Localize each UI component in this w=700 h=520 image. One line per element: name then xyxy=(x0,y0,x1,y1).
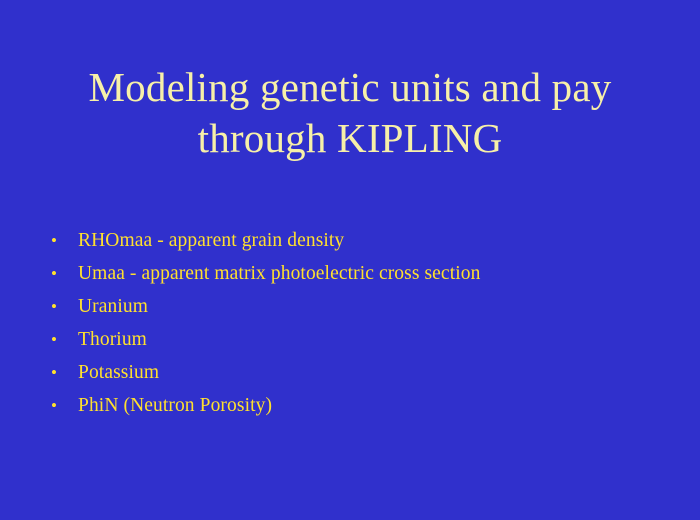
bullet-point-icon: • xyxy=(48,224,60,257)
slide-bullet-list: • RHOmaa - apparent grain density • Umaa… xyxy=(44,224,664,422)
list-item: • PhiN (Neutron Porosity) xyxy=(44,389,664,422)
list-item-label: Potassium xyxy=(78,362,159,383)
slide-title-line-2: through KIPLING xyxy=(40,113,660,164)
list-item: • Umaa - apparent matrix photoelectric c… xyxy=(44,257,664,290)
presentation-slide: Modeling genetic units and pay through K… xyxy=(0,0,700,520)
list-item-label: Umaa - apparent matrix photoelectric cro… xyxy=(78,263,480,284)
bullet-point-icon: • xyxy=(48,389,60,422)
list-item: • Thorium xyxy=(44,323,664,356)
list-item: • Uranium xyxy=(44,290,664,323)
bullet-point-icon: • xyxy=(48,356,60,389)
list-item: • Potassium xyxy=(44,356,664,389)
slide-title: Modeling genetic units and pay through K… xyxy=(40,62,660,164)
bullet-point-icon: • xyxy=(48,290,60,323)
list-item-label: PhiN (Neutron Porosity) xyxy=(78,395,272,416)
slide-title-line-1: Modeling genetic units and pay xyxy=(40,62,660,113)
bullet-point-icon: • xyxy=(48,257,60,290)
list-item-label: RHOmaa - apparent grain density xyxy=(78,230,344,251)
list-item: • RHOmaa - apparent grain density xyxy=(44,224,664,257)
list-item-label: Uranium xyxy=(78,296,148,317)
list-item-label: Thorium xyxy=(78,329,147,350)
bullet-point-icon: • xyxy=(48,323,60,356)
